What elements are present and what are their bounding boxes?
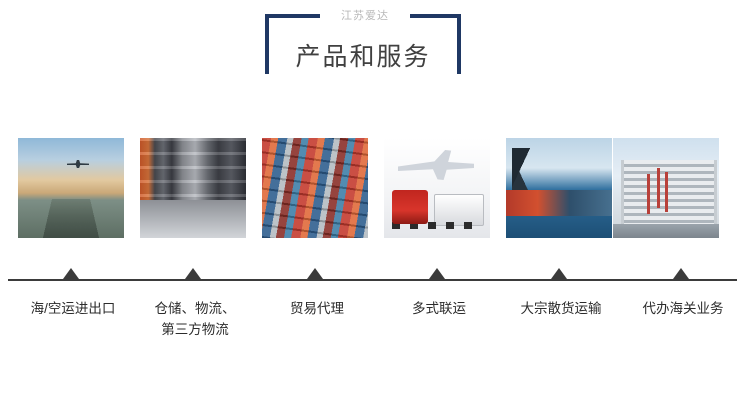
page-title: 产品和服务 [265,40,461,74]
caption-customs-agency: 代办海关业务 [623,298,743,319]
customs-office-building-photo [613,138,719,238]
photo-trade-agency [262,138,368,238]
caption-multimodal-transport: 多式联运 [379,298,499,319]
timeline-marker-4 [429,268,445,279]
truck-and-plane-photo [384,138,490,238]
building-base-shape [613,224,719,238]
timeline-marker-6 [673,268,689,279]
shipping-containers-photo [262,138,368,238]
product-image-row [0,138,745,238]
photo-multimodal-transport [384,138,490,238]
timeline-marker-3 [307,268,323,279]
photo-warehouse-logistics [140,138,246,238]
caption-trade-agency: 贸易代理 [257,298,377,319]
airplane-taking-off-runway-photo [18,138,124,238]
header: 江苏爱达 产品和服务 [0,0,745,110]
timeline-axis [8,279,737,281]
truck-wheels-shape [392,222,482,229]
warehouse-racking-photo [140,138,246,238]
photo-air-sea-import-export [18,138,124,238]
caption-air-sea-import-export: 海/空运进出口 [13,298,133,319]
company-subtitle: 江苏爱达 [320,9,410,23]
photo-bulk-cargo-transport [506,138,612,238]
timeline-marker-2 [185,268,201,279]
caption-line-1: 仓储、物流、 [135,298,255,319]
caption-bulk-cargo-transport: 大宗散货运输 [501,298,621,319]
caption-warehouse-logistics: 仓储、物流、 第三方物流 [135,298,255,340]
timeline-marker-5 [551,268,567,279]
caption-line-2: 第三方物流 [135,319,255,340]
port-crane-bulk-cargo-photo [506,138,612,238]
photo-customs-agency [613,138,719,238]
timeline-marker-1 [63,268,79,279]
